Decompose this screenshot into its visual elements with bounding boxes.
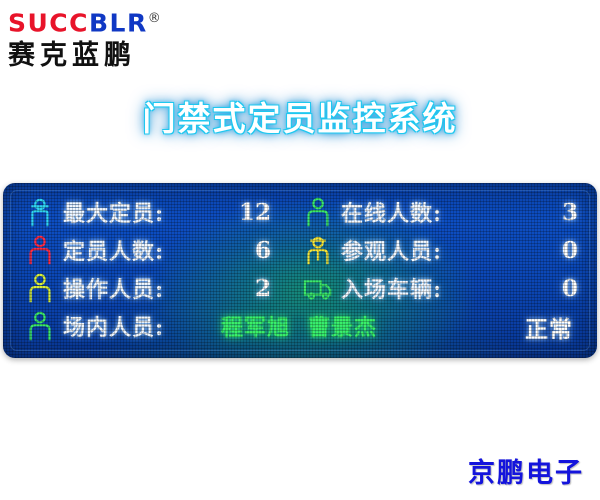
stat-online-count: 在线人数: 3 <box>303 193 588 231</box>
stat-label: 场内人员: <box>63 310 164 342</box>
stat-value: 0 <box>562 237 578 264</box>
stat-label: 操作人员: <box>63 272 164 304</box>
brand-chinese-name: 赛克蓝鹏 <box>8 39 218 73</box>
person-icon <box>25 235 55 265</box>
person-icon <box>25 311 55 341</box>
stat-value: 3 <box>562 199 578 226</box>
onsite-names-list: 程军旭曹景杰 <box>221 310 395 342</box>
brand-latin-wordmark: SUCCBLR® <box>8 4 218 38</box>
status-badge: 正常 <box>525 310 573 344</box>
list-item: 程军旭 <box>221 315 290 341</box>
list-item: 曹景杰 <box>308 315 377 341</box>
stat-value: 6 <box>255 237 271 264</box>
person-cap-icon <box>25 197 55 227</box>
led-display-panel: 最大定员: 12 在线人数: 3 <box>3 183 597 358</box>
page-title: 门禁式定员监控系统 <box>0 92 600 140</box>
brand-latin-part-a: SUCC <box>8 8 89 37</box>
stat-assigned-capacity: 定员人数: 6 <box>25 231 287 269</box>
stat-label: 定员人数: <box>63 234 164 266</box>
stat-label: 最大定员: <box>63 196 164 228</box>
truck-icon <box>303 273 333 303</box>
led-row-onsite: 场内人员: 程军旭曹景杰 正常 <box>3 307 597 347</box>
footer-company-mark: 京鹏电子 <box>468 451 584 490</box>
stat-value: 12 <box>239 199 271 226</box>
stat-value: 0 <box>562 275 578 302</box>
brand-latin-part-b: BLR <box>89 8 148 37</box>
stat-label: 参观人员: <box>341 234 442 266</box>
stat-operator-count: 操作人员: 2 <box>25 269 287 307</box>
person-icon <box>303 197 333 227</box>
stat-label: 在线人数: <box>341 196 442 228</box>
person-hat-icon <box>303 235 333 265</box>
stat-visitor-count: 参观人员: 0 <box>303 231 588 269</box>
brand-logo: SUCCBLR® 赛克蓝鹏 <box>8 4 218 72</box>
person-icon <box>25 273 55 303</box>
led-content: 最大定员: 12 在线人数: 3 <box>3 183 597 358</box>
registered-trademark-icon: ® <box>148 11 161 26</box>
stat-max-capacity: 最大定员: 12 <box>25 193 287 231</box>
led-row: 最大定员: 12 在线人数: 3 <box>3 193 597 231</box>
stat-label: 入场车辆: <box>341 272 442 304</box>
stat-value: 2 <box>255 275 271 302</box>
led-row: 操作人员: 2 入场车辆: 0 <box>3 269 597 307</box>
stat-vehicle-count: 入场车辆: 0 <box>303 269 588 307</box>
led-row: 定员人数: 6 参观人员: 0 <box>3 231 597 269</box>
